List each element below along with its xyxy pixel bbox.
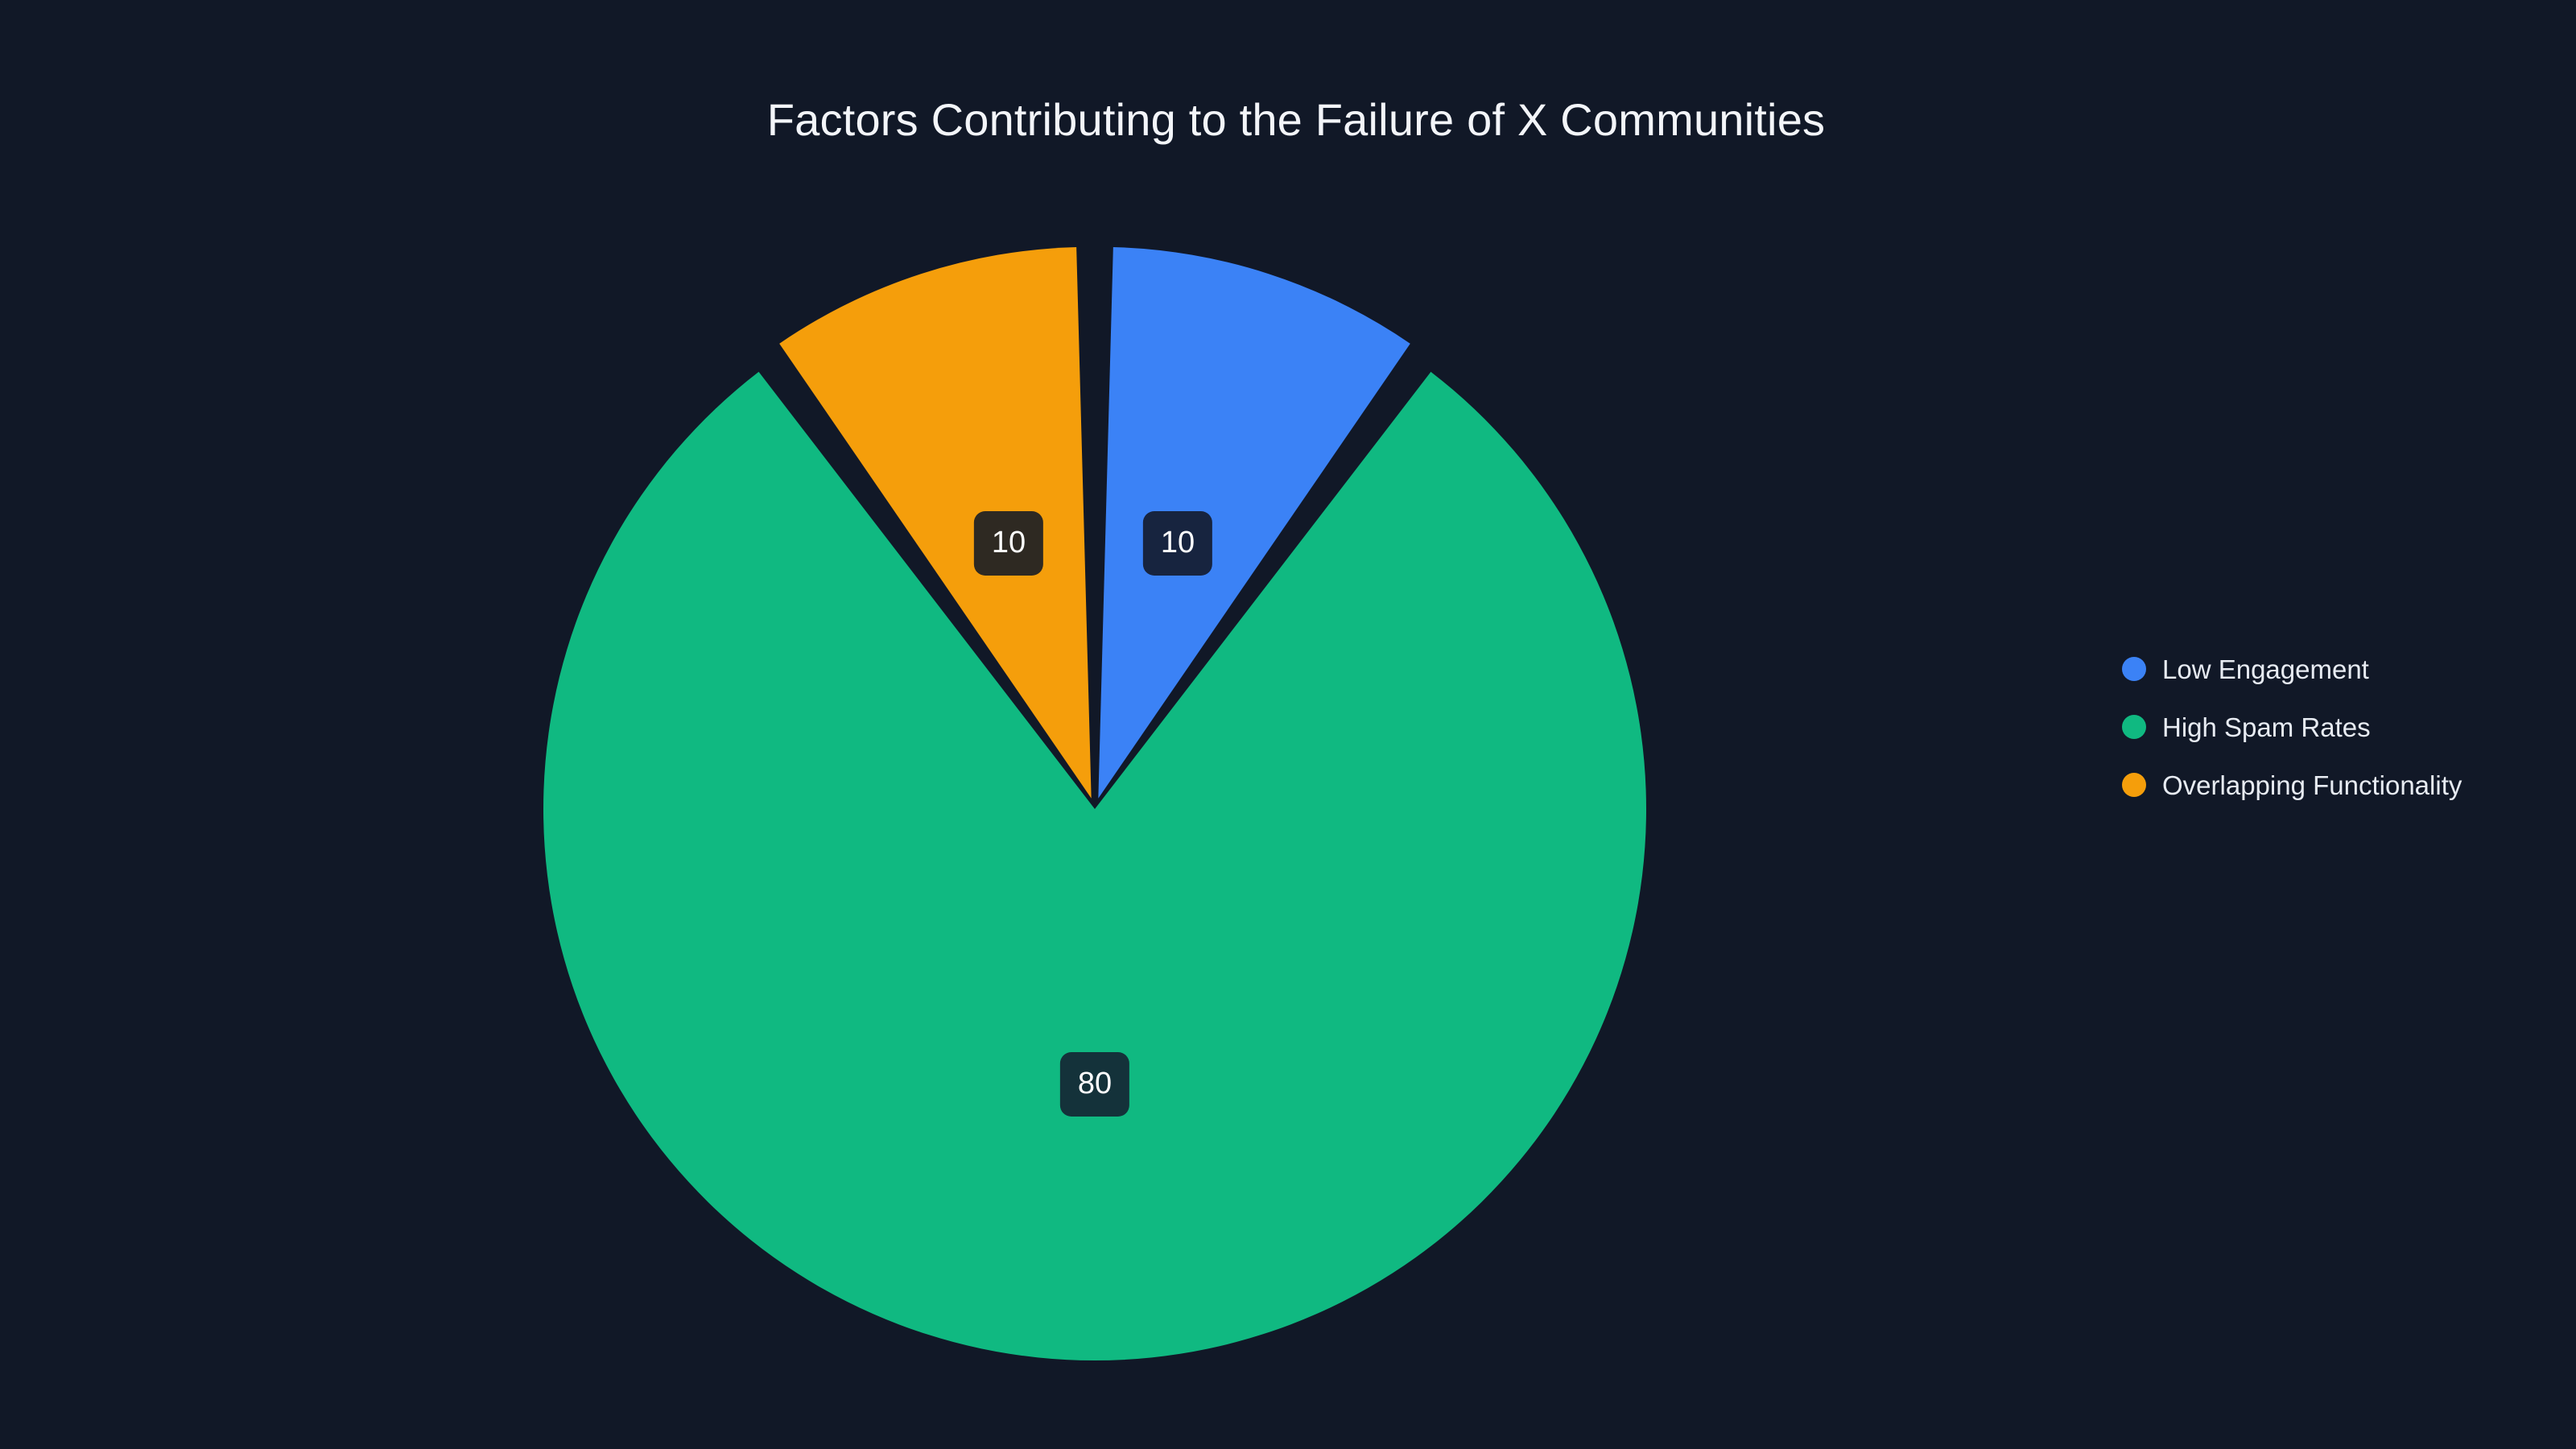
legend-label: High Spam Rates bbox=[2162, 714, 2371, 741]
legend-swatch-icon bbox=[2122, 773, 2146, 797]
data-label: 10 bbox=[974, 511, 1043, 576]
pie-slices bbox=[543, 247, 1646, 1360]
legend-label: Low Engagement bbox=[2162, 656, 2369, 683]
legend-label: Overlapping Functionality bbox=[2162, 772, 2462, 799]
legend-item-low-engagement[interactable]: Low Engagement bbox=[2122, 640, 2541, 698]
legend-item-overlapping-functionality[interactable]: Overlapping Functionality bbox=[2122, 756, 2541, 814]
legend-swatch-icon bbox=[2122, 715, 2146, 739]
data-label: 80 bbox=[1060, 1052, 1129, 1117]
data-label: 10 bbox=[1143, 511, 1212, 576]
legend-item-high-spam-rates[interactable]: High Spam Rates bbox=[2122, 698, 2541, 756]
pie-chart-canvas: Factors Contributing to the Failure of X… bbox=[0, 0, 2576, 1449]
pie-slice-high-spam-rates[interactable] bbox=[543, 372, 1646, 1360]
legend-swatch-icon bbox=[2122, 657, 2146, 681]
legend: Low EngagementHigh Spam RatesOverlapping… bbox=[2122, 640, 2541, 814]
